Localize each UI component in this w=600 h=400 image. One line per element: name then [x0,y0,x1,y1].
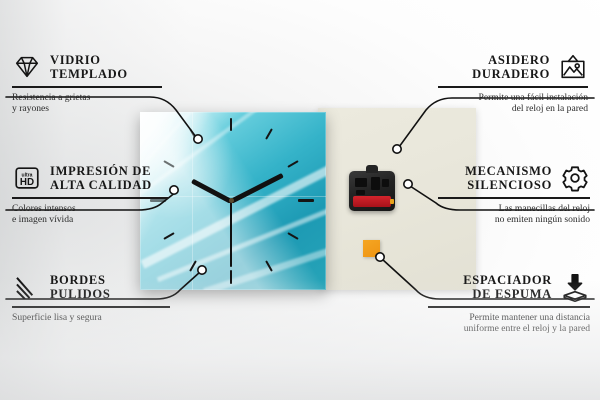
feature-title: MECANISMO SILENCIOSO [465,164,552,192]
clock-tick [298,199,314,202]
feature-title: IMPRESIÓN DE ALTA CALIDAD [50,164,152,192]
feature-vidrio-templado: VIDRIO TEMPLADO Resistencia a grietas y … [12,52,162,115]
clock-tick [230,270,232,284]
feature-description: Superficie lisa y segura [12,312,170,324]
product-infographic: VIDRIO TEMPLADO Resistencia a grietas y … [0,0,600,400]
mechanism-detail [355,178,367,187]
clock-tick [265,128,273,139]
divider [12,197,168,199]
clock-tick [163,232,174,240]
feather-streak [203,236,326,290]
feature-asidero-duradero: ASIDERO DURADERO Permite una fácil insta… [438,52,588,115]
feature-title: ASIDERO DURADERO [472,53,550,81]
mechanism-battery [353,196,391,207]
ultra-hd-large-label: HD [20,177,34,188]
gear-icon [560,163,590,193]
polished-edges-icon [12,272,42,302]
second-hand [230,201,232,267]
divider [438,197,590,199]
feature-description: Resistencia a grietas y rayones [12,92,162,115]
divider [12,306,170,308]
mechanism-detail [371,177,380,190]
divider [438,86,588,88]
foam-spacer [363,240,380,257]
feature-bordes-pulidos: BORDES PULIDOS Superficie lisa y segura [12,272,170,323]
mechanism-detail [356,190,365,195]
feature-mecanismo-silencioso: MECANISMO SILENCIOSO Las manecillas del … [438,163,590,226]
feature-espaciador-de-espuma: ESPACIADOR DE ESPUMA Permite mantener un… [428,272,590,335]
feature-title: ESPACIADOR DE ESPUMA [463,273,552,301]
feature-title: VIDRIO TEMPLADO [50,53,128,81]
diamond-icon [12,52,42,82]
clock-mechanism [349,171,395,211]
mechanism-detail [382,179,389,187]
hands-center-cap [229,198,234,203]
feature-description: Las manecillas del reloj no emiten ningú… [438,203,590,226]
feature-description: Permite mantener una distancia uniforme … [428,312,590,335]
clock-tick [287,232,298,240]
mechanism-hanger [366,165,378,173]
feature-description: Colores intensos e imagen vívida [12,203,168,226]
clock-tick [287,160,298,168]
clock-tick [230,118,232,131]
feature-title: BORDES PULIDOS [50,273,110,301]
ultra-hd-icon: ultra HD [12,163,42,193]
divider [12,86,162,88]
feature-description: Permite una fácil instalación del reloj … [438,92,588,115]
framed-picture-hanger-icon [558,52,588,82]
down-arrow-pad-icon [560,272,590,302]
feature-impresion-alta-calidad: ultra HD IMPRESIÓN DE ALTA CALIDAD Color… [12,163,168,226]
divider [428,306,590,308]
